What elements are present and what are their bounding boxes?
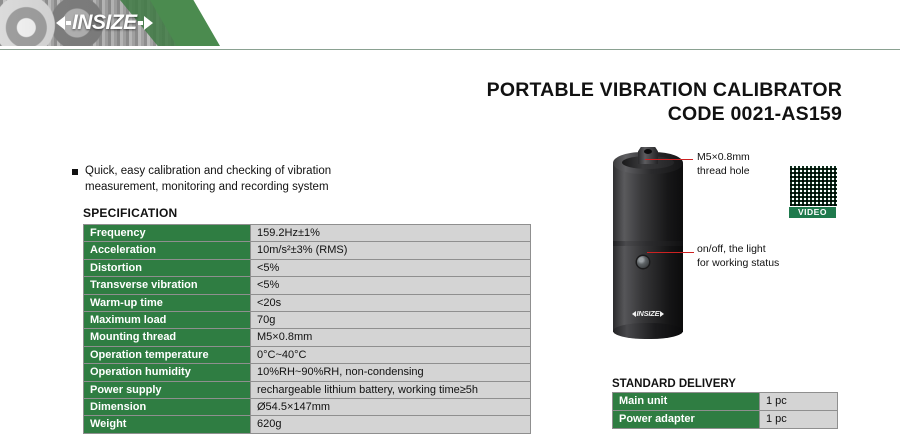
- table-row: Transverse vibration <5%: [84, 277, 531, 294]
- spec-value: Ø54.5×147mm: [251, 399, 531, 416]
- product-bottom-edge: [613, 323, 683, 339]
- callout-leader-line-thread: [645, 159, 693, 160]
- standard-delivery-heading: STANDARD DELIVERY: [612, 378, 736, 390]
- spec-label: Operation humidity: [84, 364, 251, 381]
- spec-label: Acceleration: [84, 242, 251, 259]
- spec-label: Transverse vibration: [84, 277, 251, 294]
- feature-bullet-text: Quick, easy calibration and checking of …: [85, 164, 402, 195]
- spec-label: Dimension: [84, 399, 251, 416]
- product-body-logo: INSIZE: [624, 309, 672, 318]
- table-row: Acceleration 10m/s²±3% (RMS): [84, 242, 531, 259]
- logo-text: INSIZE: [72, 12, 137, 33]
- spec-label: Frequency: [84, 225, 251, 242]
- product-name: PORTABLE VIBRATION CALIBRATOR: [487, 78, 842, 102]
- table-row: Distortion <5%: [84, 259, 531, 276]
- spec-value: rechargeable lithium battery, working ti…: [251, 381, 531, 398]
- product-logo-right-arrow-icon: [660, 311, 664, 317]
- feature-bullet-item: Quick, easy calibration and checking of …: [72, 164, 402, 195]
- spec-value: 0°C~40°C: [251, 346, 531, 363]
- spec-value: <20s: [251, 294, 531, 311]
- callout-onoff-light: on/off, the light for working status: [697, 243, 779, 270]
- callout-thread-hole: M5×0.8mm thread hole: [697, 151, 750, 178]
- page-header: INSIZE: [0, 0, 900, 50]
- video-qr-block[interactable]: VIDEO: [789, 165, 836, 218]
- bullet-square-icon: [72, 169, 78, 175]
- spec-label: Warm-up time: [84, 294, 251, 311]
- spec-value: 159.2Hz±1%: [251, 225, 531, 242]
- product-code: CODE 0021-AS159: [487, 102, 842, 126]
- delivery-label: Main unit: [613, 393, 760, 411]
- table-row: Maximum load 70g: [84, 312, 531, 329]
- spec-value: 70g: [251, 312, 531, 329]
- spec-label: Distortion: [84, 259, 251, 276]
- product-upper-body: [613, 163, 683, 243]
- delivery-value: 1 pc: [760, 411, 838, 429]
- qr-video-label: VIDEO: [789, 207, 836, 218]
- specification-table: Frequency 159.2Hz±1% Acceleration 10m/s²…: [83, 224, 531, 434]
- product-logo-left-arrow-icon: [632, 311, 636, 317]
- table-row: Operation temperature 0°C~40°C: [84, 346, 531, 363]
- callout-thread-line1: M5×0.8mm: [697, 151, 750, 165]
- logo-right-bar-icon: [138, 21, 143, 25]
- spec-value: 10m/s²±3% (RMS): [251, 242, 531, 259]
- spec-value: 10%RH~90%RH, non-condensing: [251, 364, 531, 381]
- table-row: Main unit 1 pc: [613, 393, 838, 411]
- delivery-label: Power adapter: [613, 411, 760, 429]
- product-onoff-button-icon: [637, 256, 649, 268]
- table-row: Power adapter 1 pc: [613, 411, 838, 429]
- page-title: PORTABLE VIBRATION CALIBRATOR CODE 0021-…: [487, 78, 842, 127]
- table-row: Dimension Ø54.5×147mm: [84, 399, 531, 416]
- spec-label: Maximum load: [84, 312, 251, 329]
- spec-label: Mounting thread: [84, 329, 251, 346]
- spec-value: 620g: [251, 416, 531, 433]
- table-row: Power supply rechargeable lithium batter…: [84, 381, 531, 398]
- qr-code-icon[interactable]: [789, 165, 838, 207]
- product-lower-body: [613, 244, 683, 332]
- insize-logo: INSIZE: [56, 12, 153, 33]
- callout-onoff-line1: on/off, the light: [697, 243, 779, 257]
- logo-right-arrow-icon: [144, 16, 153, 30]
- spec-value: <5%: [251, 259, 531, 276]
- standard-delivery-table: Main unit 1 pc Power adapter 1 pc: [612, 392, 838, 429]
- product-logo-text: INSIZE: [637, 309, 660, 318]
- table-row: Operation humidity 10%RH~90%RH, non-cond…: [84, 364, 531, 381]
- logo-left-arrow-icon: [56, 16, 65, 30]
- spec-value: M5×0.8mm: [251, 329, 531, 346]
- spec-label: Weight: [84, 416, 251, 433]
- callout-onoff-line2: for working status: [697, 257, 779, 271]
- spec-value: <5%: [251, 277, 531, 294]
- table-row: Warm-up time <20s: [84, 294, 531, 311]
- spec-label: Power supply: [84, 381, 251, 398]
- header-divider: [0, 49, 900, 50]
- delivery-value: 1 pc: [760, 393, 838, 411]
- standard-delivery-table-body: Main unit 1 pc Power adapter 1 pc: [613, 393, 838, 429]
- product-body-seam: [613, 241, 683, 246]
- product-photo: INSIZE: [612, 143, 684, 343]
- logo-left-bar-icon: [66, 21, 71, 25]
- callout-thread-line2: thread hole: [697, 165, 750, 179]
- specification-table-body: Frequency 159.2Hz±1% Acceleration 10m/s²…: [84, 225, 531, 434]
- table-row: Weight 620g: [84, 416, 531, 433]
- spec-label: Operation temperature: [84, 346, 251, 363]
- callout-leader-line-button: [647, 252, 694, 253]
- product-thread-hole: [644, 149, 652, 154]
- table-row: Frequency 159.2Hz±1%: [84, 225, 531, 242]
- specification-heading: SPECIFICATION: [83, 206, 177, 220]
- table-row: Mounting thread M5×0.8mm: [84, 329, 531, 346]
